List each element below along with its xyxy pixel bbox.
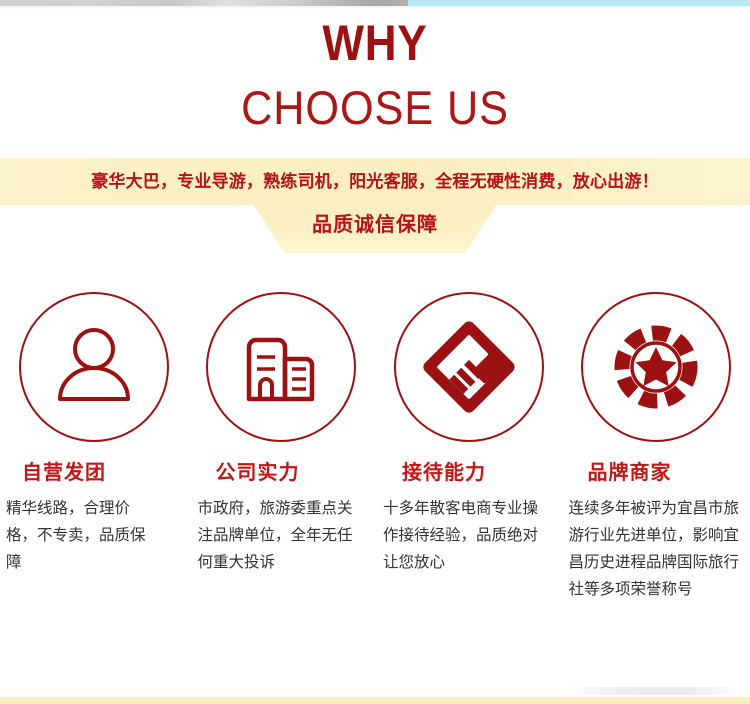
bottom-ghost-strip [564,687,744,695]
star-badge-icon [606,317,706,417]
handshake-icon-circle [394,292,544,442]
feature-columns: 自营发团 精华线路，合理价格，不专卖，品质保障 公司实力 市政府，旅游委重点关注… [0,292,750,603]
feature-title: 自营发团 [0,456,188,485]
feature-column-company-strength: 公司实力 市政府，旅游委重点关注品牌单位，全年无任何重大投诉 [188,292,376,603]
promise-banner-text: 豪华大巴，专业导游，熟练司机，阳光客服，全程无硬性消费，放心出游！ [0,158,750,205]
feature-column-reception-capacity: 接待能力 十多年散客电商专业操作接待经验，品质绝对让您放心 [375,292,563,603]
feature-column-self-operated: 自营发团 精华线路，合理价格，不专卖，品质保障 [0,292,188,603]
feature-body: 精华线路，合理价格，不专卖，品质保障 [0,495,188,576]
feature-column-brand-merchant: 品牌商家 连续多年被评为宜昌市旅游行业先进单位，影响宜昌历史进程品牌国际旅行社等… [563,292,750,603]
feature-title: 接待能力 [375,456,563,485]
star-badge-icon-circle [581,292,731,442]
feature-body: 市政府，旅游委重点关注品牌单位，全年无任何重大投诉 [188,495,376,576]
headline-why: WHY [45,14,705,72]
building-icon [235,321,327,413]
page-headline: WHY CHOOSE US [0,14,750,138]
person-icon [46,319,142,415]
top-strip-fade [0,6,750,10]
building-icon-circle [206,292,356,442]
feature-title: 公司实力 [188,456,376,485]
headline-choose-us: CHOOSE US [30,78,720,138]
feature-body: 十多年散客电商专业操作接待经验，品质绝对让您放心 [375,495,563,576]
bottom-edge-strip [0,697,750,704]
person-icon-circle [19,292,169,442]
feature-body: 连续多年被评为宜昌市旅游行业先进单位，影响宜昌历史进程品牌国际旅行社等多项荣誉称… [563,495,750,603]
quality-tab-text: 品质诚信保障 [0,204,750,246]
handshake-icon [419,317,519,417]
feature-title: 品牌商家 [563,456,750,485]
